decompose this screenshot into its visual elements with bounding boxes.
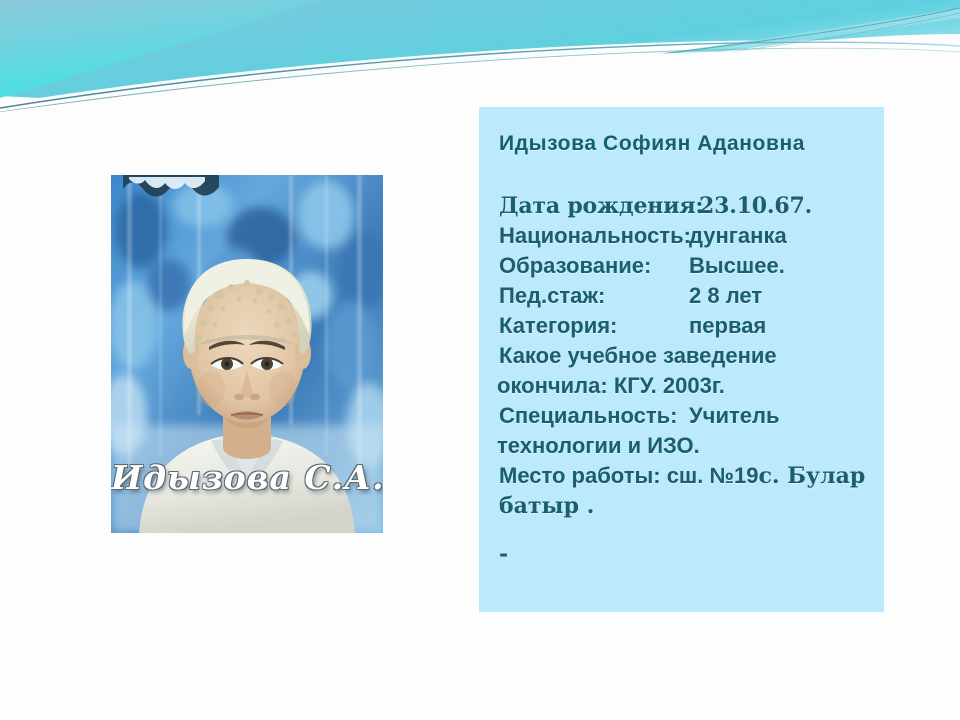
info-row-birthdate: Дата рождения:23.10.67. xyxy=(481,191,884,221)
wave-shape-ribbon xyxy=(300,8,960,90)
info-row-institution-question: Какое учебное заведение xyxy=(481,341,884,371)
info-row-experience: Пед.стаж:2 8 лет xyxy=(481,281,884,311)
info-label-institution-question: Какое учебное заведение xyxy=(499,341,777,371)
info-row-workplace-cont: батыр . xyxy=(481,491,884,521)
info-label-birthdate: Дата рождения: xyxy=(499,191,699,221)
wave-line-outer xyxy=(0,42,960,108)
wave-line-inner xyxy=(0,48,960,112)
info-row-specialty: Специальность:Учитель xyxy=(481,401,884,431)
info-value-workplace: с. Булар xyxy=(759,461,866,491)
info-row-institution-answer: окончила: КГУ. 2003г. xyxy=(481,371,884,401)
info-label-experience: Пед.стаж: xyxy=(499,281,689,311)
portrait-photo: Идызова С.А. xyxy=(111,175,383,533)
info-label-specialty: Специальность: xyxy=(499,401,689,431)
info-label-dash: - xyxy=(499,541,508,567)
info-row-dash: - xyxy=(481,539,884,569)
person-name-title: Идызова Софиян Адановна xyxy=(499,132,805,156)
info-value-education: Высшее. xyxy=(689,251,785,281)
info-value-experience: 2 8 лет xyxy=(689,281,762,311)
info-lines-list: Дата рождения:23.10.67. Национальность:д… xyxy=(481,191,884,569)
info-row-workplace: Место работы: сш. №19 с. Булар xyxy=(481,461,884,491)
info-label-workplace: Место работы: сш. №19 xyxy=(499,461,759,491)
info-row-education: Образование:Высшее. xyxy=(481,251,884,281)
wave-shape-primary xyxy=(0,0,960,100)
info-row-specialty-cont: технологии и ИЗО. xyxy=(481,431,884,461)
wave-header-decoration xyxy=(0,0,960,120)
info-textbox: Идызова Софиян Адановна Дата рождения:23… xyxy=(479,107,884,612)
info-value-specialty: Учитель xyxy=(689,401,780,431)
info-label-workplace-cont: батыр . xyxy=(499,491,594,521)
wave-line-ribbon-edge-2 xyxy=(330,13,960,96)
wave-line-ribbon-edge xyxy=(300,8,960,92)
info-label-category: Категория: xyxy=(499,311,689,341)
wave-shape-accent xyxy=(0,0,320,98)
info-label-nationality: Национальность: xyxy=(499,221,689,251)
info-row-category: Категория:первая xyxy=(481,311,884,341)
info-value-nationality: дунганка xyxy=(689,221,787,251)
info-label-specialty-cont: технологии и ИЗО. xyxy=(497,431,700,461)
info-spacer xyxy=(481,521,884,539)
info-label-education: Образование: xyxy=(499,251,689,281)
photo-signature-caption: Идызова С.А. xyxy=(111,458,383,497)
info-label-institution-answer: окончила: КГУ. 2003г. xyxy=(497,371,725,401)
slide-canvas: Идызова С.А. Идызова Софиян Адановна Дат… xyxy=(0,0,960,720)
info-value-category: первая xyxy=(689,311,766,341)
info-row-nationality: Национальность:дунганка xyxy=(481,221,884,251)
info-value-birthdate: 23.10.67. xyxy=(699,191,812,221)
